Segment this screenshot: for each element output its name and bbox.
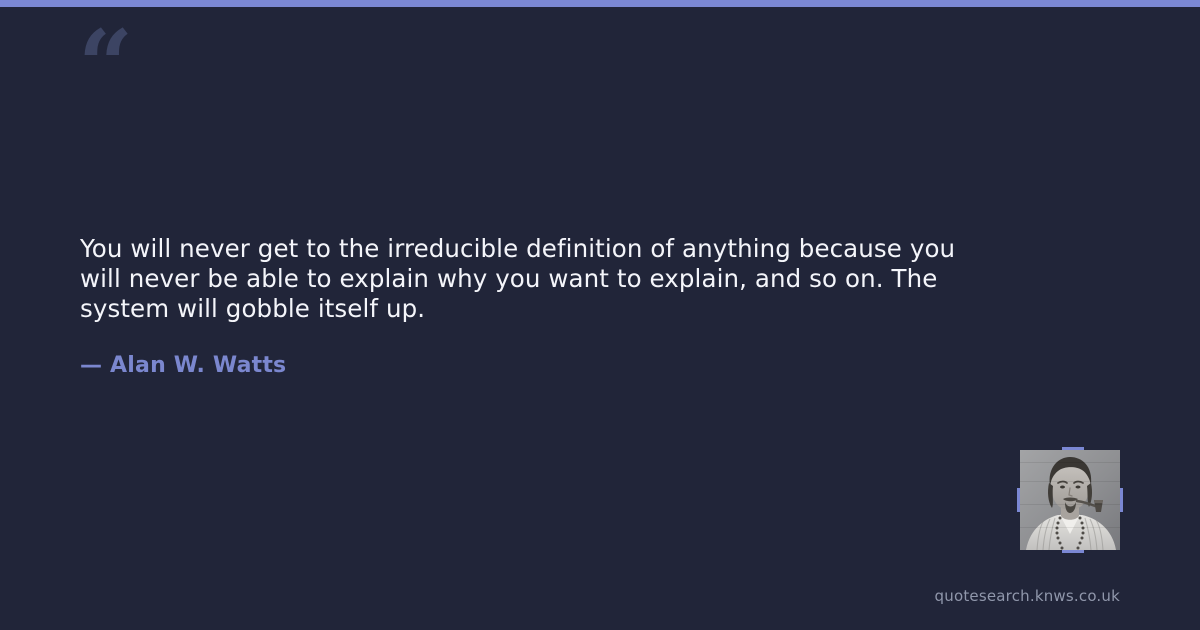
site-url: quotesearch.knws.co.uk (935, 587, 1120, 605)
portrait-accent-right (1120, 488, 1123, 512)
quote-author: — Alan W. Watts (80, 324, 1000, 379)
author-portrait-photo (1020, 450, 1120, 550)
quote-content-block: You will never get to the irreducible de… (80, 234, 1000, 379)
portrait-accent-bottom (1062, 550, 1084, 553)
quote-card: “ You will never get to the irreducible … (0, 0, 1200, 630)
portrait-accent-top (1062, 447, 1084, 450)
quotation-mark-icon: “ (78, 18, 131, 114)
author-portrait-frame (1020, 450, 1120, 550)
top-accent-bar (0, 0, 1200, 7)
portrait-accent-left (1017, 488, 1020, 512)
quote-text: You will never get to the irreducible de… (80, 234, 975, 324)
